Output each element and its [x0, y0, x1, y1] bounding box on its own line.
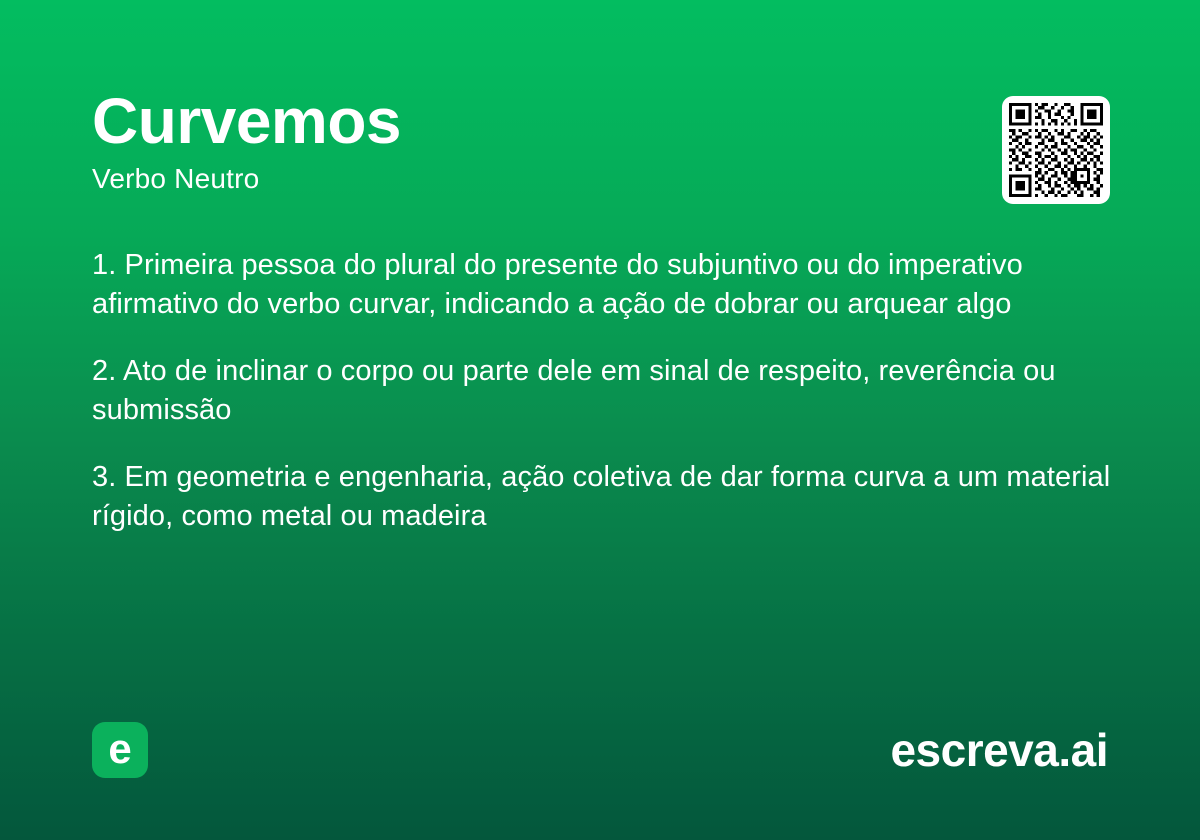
qr-code-icon — [1009, 103, 1103, 197]
brand-logo-letter: e — [108, 728, 131, 770]
dictionary-card: Curvemos Verbo Neutro — [0, 0, 1200, 840]
definition-list: 1. Primeira pessoa do plural do presente… — [92, 246, 1112, 536]
brand-wordmark: escreva.ai — [890, 724, 1108, 776]
definition-item: 3. Em geometria e engenharia, ação colet… — [92, 458, 1112, 536]
page-title: Curvemos — [92, 88, 1108, 154]
brand-logo-icon: e — [92, 722, 148, 778]
card-footer: e escreva.ai — [92, 722, 1108, 780]
word-class-label: Verbo Neutro — [92, 164, 1108, 194]
definition-item: 1. Primeira pessoa do plural do presente… — [92, 246, 1112, 324]
qr-code[interactable] — [1002, 96, 1110, 204]
definition-item: 2. Ato de inclinar o corpo ou parte dele… — [92, 352, 1112, 430]
card-header: Curvemos Verbo Neutro — [92, 88, 1108, 194]
